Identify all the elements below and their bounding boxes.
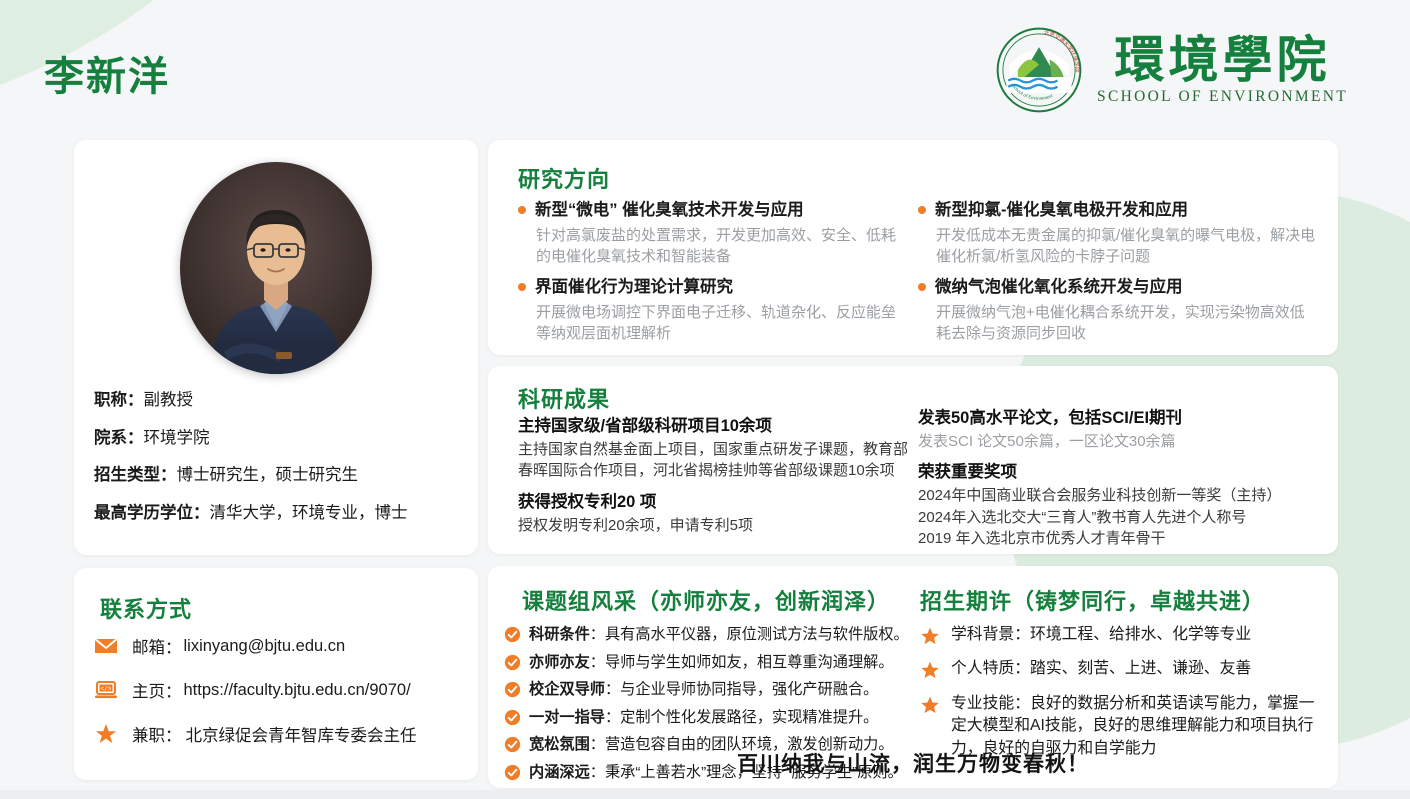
team-item-text: 具有高水平仪器，原位测试方法与软件版权。: [605, 626, 909, 643]
research-item-heading-row: 新型“微电” 催化臭氧技术开发与应用: [518, 198, 910, 223]
poster-page: 李新洋 北京交通大学环境学院 School of Environment: [0, 0, 1410, 799]
page-title: 李新洋: [44, 44, 170, 102]
team-item: 一对一指导：定制个性化发展路径，实现精准提升。: [504, 707, 920, 729]
research-item-body: 开发低成本无贵金属的抑氯/催化臭氧的曝气电极，解决电催化析氯/析氢风险的卡脖子问…: [936, 225, 1318, 268]
profile-field-value: 环境学院: [144, 429, 210, 447]
achievement-body: 2024年中国商业联合会服务业科技创新一等奖（主持） 2024年入选北交大“三育…: [918, 485, 1322, 550]
expectation-item-separator: ：: [1014, 695, 1030, 712]
team-item-label: 校企双导师: [529, 681, 605, 698]
profile-field-row: 最高学历学位：清华大学，环境专业，博士: [94, 503, 464, 524]
star-icon: [94, 723, 118, 745]
team-item-text: 与企业导师协同指导，强化产研融合。: [620, 681, 878, 698]
achievement-item: 主持国家级/省部级科研项目10余项 主持国家自然基金面上项目，国家重点研发子课题…: [518, 414, 910, 482]
contact-card: 联系方式 邮箱：lixinyang@bjtu.edu.cn </>: [74, 568, 478, 780]
profile-field-label: 招生类型: [94, 466, 160, 484]
bullet-dot-icon: [518, 206, 526, 214]
contact-title: 联系方式: [100, 592, 192, 624]
star-icon: [920, 660, 940, 680]
expectations-column: 招生期许（铸梦同行，卓越共进） 学科背景：环境工程、给排水、化学等专业 个人特质…: [920, 584, 1320, 772]
contact-list: 邮箱：lixinyang@bjtu.edu.cn </> 主页：https://…: [94, 634, 468, 766]
profile-field-separator: ：: [193, 504, 210, 522]
research-column-left: 新型“微电” 催化臭氧技术开发与应用 针对高氯废盐的处置需求，开发更加高效、安全…: [518, 198, 910, 353]
achievements-title: 科研成果: [518, 382, 610, 414]
bullet-dot-icon: [918, 283, 926, 291]
team-item-text: 导师与学生如师如友，相互尊重沟通理解。: [605, 654, 894, 671]
achievement-body: 发表SCI 论文50余篇，一区论文30余篇: [918, 431, 1322, 453]
profile-field-row: 职称：副教授: [94, 390, 464, 411]
expectation-item: 个人特质：踏实、刻苦、上进、谦逊、友善: [920, 658, 1320, 680]
expectation-item: 学科背景：环境工程、给排水、化学等专业: [920, 624, 1320, 646]
check-circle-icon: [504, 654, 521, 671]
bottom-card: 课题组风采（亦师亦友，创新润泽） 科研条件：具有高水平仪器，原位测试方法与软件版…: [488, 566, 1338, 788]
star-icon: [920, 626, 940, 646]
decorative-bottom-strip: [0, 790, 1410, 799]
expectation-item-text: 环境工程、给排水、化学等专业: [1030, 626, 1251, 643]
profile-card: 职称：副教授 院系：环境学院 招生类型：博士研究生，硕士研究生 最高学历学位：清…: [74, 140, 478, 555]
team-item-separator: ：: [605, 681, 620, 698]
school-emblem-icon: 北京交通大学环境学院 School of Environment: [995, 26, 1083, 114]
research-directions-title: 研究方向: [518, 162, 610, 194]
profile-field-label: 最高学历学位: [94, 504, 193, 522]
research-item: 微纳气泡催化氧化系统开发与应用 开展微纳气泡+电催化耦合系统开发，实现污染物高效…: [918, 275, 1318, 344]
research-item: 新型“微电” 催化臭氧技术开发与应用 针对高氯废盐的处置需求，开发更加高效、安全…: [518, 198, 910, 267]
check-circle-icon: [504, 709, 521, 726]
contact-email-value[interactable]: lixinyang@bjtu.edu.cn: [184, 637, 346, 656]
envelope-icon: [94, 635, 118, 657]
contact-item-email[interactable]: 邮箱：lixinyang@bjtu.edu.cn: [94, 634, 468, 658]
achievements-column-right: 发表50高水平论文，包括SCI/EI期刊 发表SCI 论文50余篇，一区论文30…: [918, 406, 1322, 558]
team-item-label: 一对一指导: [529, 709, 605, 726]
research-item-heading: 微纳气泡催化氧化系统开发与应用: [935, 275, 1183, 300]
achievement-item: 发表50高水平论文，包括SCI/EI期刊 发表SCI 论文50余篇，一区论文30…: [918, 406, 1322, 452]
achievement-item: 获得授权专利20 项 授权发明专利20余项，申请专利5项: [518, 490, 910, 536]
profile-field-label: 院系: [94, 429, 127, 447]
profile-field-value: 副教授: [144, 391, 194, 409]
research-directions-card: 研究方向 新型“微电” 催化臭氧技术开发与应用 针对高氯废盐的处置需求，开发更加…: [488, 140, 1338, 355]
expectation-item-text: 踏实、刻苦、上进、谦逊、友善: [1030, 660, 1251, 677]
contact-item-homepage[interactable]: </> 主页：https://faculty.bjtu.edu.cn/9070/: [94, 678, 468, 702]
svg-text:</>: </>: [101, 686, 112, 693]
contact-homepage-label: 主页：: [132, 678, 182, 702]
team-title: 课题组风采（亦师亦友，创新润泽）: [504, 584, 920, 616]
research-item-heading: 新型“微电” 催化臭氧技术开发与应用: [535, 198, 804, 223]
team-item-label: 科研条件: [529, 626, 590, 643]
research-item-body: 针对高氯废盐的处置需求，开发更加高效、安全、低耗的电催化臭氧技术和智能装备: [536, 225, 910, 268]
research-item-body: 开展微电场调控下界面电子迁移、轨道杂化、反应能垒等纳观层面机理解析: [536, 302, 910, 345]
achievement-body: 授权发明专利20余项，申请专利5项: [518, 515, 910, 537]
slogan: 百川纳我与山流，润生万物变春秋！: [488, 748, 1338, 778]
profile-field-separator: ：: [127, 391, 144, 409]
profile-field-row: 院系：环境学院: [94, 428, 464, 449]
profile-field-value: 清华大学，环境专业，博士: [210, 504, 408, 522]
team-item-separator: ：: [590, 626, 605, 643]
achievement-body: 主持国家自然基金面上项目，国家重点研发子课题，教育部春晖国际合作项目，河北省揭榜…: [518, 439, 910, 482]
expectation-item-label: 专业技能: [951, 695, 1014, 712]
laptop-code-icon: </>: [94, 679, 118, 701]
achievement-heading: 荣获重要奖项: [918, 460, 1322, 485]
team-item-text: 定制个性化发展路径，实现精准提升。: [620, 709, 878, 726]
logo-english-name: SCHOOL OF ENVIRONMENT: [1097, 88, 1348, 106]
achievements-card: 科研成果 主持国家级/省部级科研项目10余项 主持国家自然基金面上项目，国家重点…: [488, 366, 1338, 554]
achievement-item: 荣获重要奖项 2024年中国商业联合会服务业科技创新一等奖（主持） 2024年入…: [918, 460, 1322, 550]
team-item: 科研条件：具有高水平仪器，原位测试方法与软件版权。: [504, 624, 920, 646]
achievements-column-left: 主持国家级/省部级科研项目10余项 主持国家自然基金面上项目，国家重点研发子课题…: [518, 414, 910, 544]
avatar: [180, 162, 372, 374]
school-logo: 北京交通大学环境学院 School of Environment 環境學院 SC…: [995, 26, 1348, 114]
expectation-item-separator: ：: [1014, 626, 1030, 643]
check-circle-icon: [504, 681, 521, 698]
expectation-item-separator: ：: [1014, 660, 1030, 677]
team-item-separator: ：: [605, 709, 620, 726]
profile-field-row: 招生类型：博士研究生，硕士研究生: [94, 465, 464, 486]
team-item: 亦师亦友：导师与学生如师如友，相互尊重沟通理解。: [504, 652, 920, 674]
research-item: 新型抑氯-催化臭氧电极开发和应用 开发低成本无贵金属的抑氯/催化臭氧的曝气电极，…: [918, 198, 1318, 267]
logo-chinese-name: 環境學院: [1115, 34, 1331, 87]
expectation-item-label: 学科背景: [951, 626, 1014, 643]
team-item-label: 亦师亦友: [529, 654, 590, 671]
research-item-body: 开展微纳气泡+电催化耦合系统开发，实现污染物高效低耗去除与资源同步回收: [936, 302, 1318, 345]
contact-item-affiliation: 兼职：北京绿促会青年智库专委会主任: [94, 722, 468, 746]
bullet-dot-icon: [918, 206, 926, 214]
profile-field-label: 职称: [94, 391, 127, 409]
contact-affiliation-value: 北京绿促会青年智库专委会主任: [186, 722, 417, 746]
research-column-right: 新型抑氯-催化臭氧电极开发和应用 开发低成本无贵金属的抑氯/催化臭氧的曝气电极，…: [918, 198, 1318, 353]
achievement-heading: 主持国家级/省部级科研项目10余项: [518, 414, 910, 439]
research-item-heading-row: 界面催化行为理论计算研究: [518, 275, 910, 300]
contact-homepage-value[interactable]: https://faculty.bjtu.edu.cn/9070/: [184, 681, 411, 700]
profile-field-value: 博士研究生，硕士研究生: [177, 466, 359, 484]
research-item-heading-row: 新型抑氯-催化臭氧电极开发和应用: [918, 198, 1318, 223]
bullet-dot-icon: [518, 283, 526, 291]
team-item: 校企双导师：与企业导师协同指导，强化产研融合。: [504, 679, 920, 701]
expectations-title: 招生期许（铸梦同行，卓越共进）: [920, 584, 1320, 616]
achievement-heading: 获得授权专利20 项: [518, 490, 910, 515]
contact-affiliation-label: 兼职：: [132, 722, 182, 746]
team-item-separator: ：: [590, 654, 605, 671]
profile-field-list: 职称：副教授 院系：环境学院 招生类型：博士研究生，硕士研究生 最高学历学位：清…: [94, 390, 464, 541]
research-item-heading: 新型抑氯-催化臭氧电极开发和应用: [935, 198, 1188, 223]
contact-email-label: 邮箱：: [132, 634, 182, 658]
research-item: 界面催化行为理论计算研究 开展微电场调控下界面电子迁移、轨道杂化、反应能垒等纳观…: [518, 275, 910, 344]
achievement-heading: 发表50高水平论文，包括SCI/EI期刊: [918, 406, 1322, 431]
profile-field-separator: ：: [160, 466, 177, 484]
star-icon: [920, 695, 940, 715]
research-item-heading-row: 微纳气泡催化氧化系统开发与应用: [918, 275, 1318, 300]
expectation-item-label: 个人特质: [951, 660, 1014, 677]
profile-field-separator: ：: [127, 429, 144, 447]
research-item-heading: 界面催化行为理论计算研究: [535, 275, 733, 300]
check-circle-icon: [504, 626, 521, 643]
